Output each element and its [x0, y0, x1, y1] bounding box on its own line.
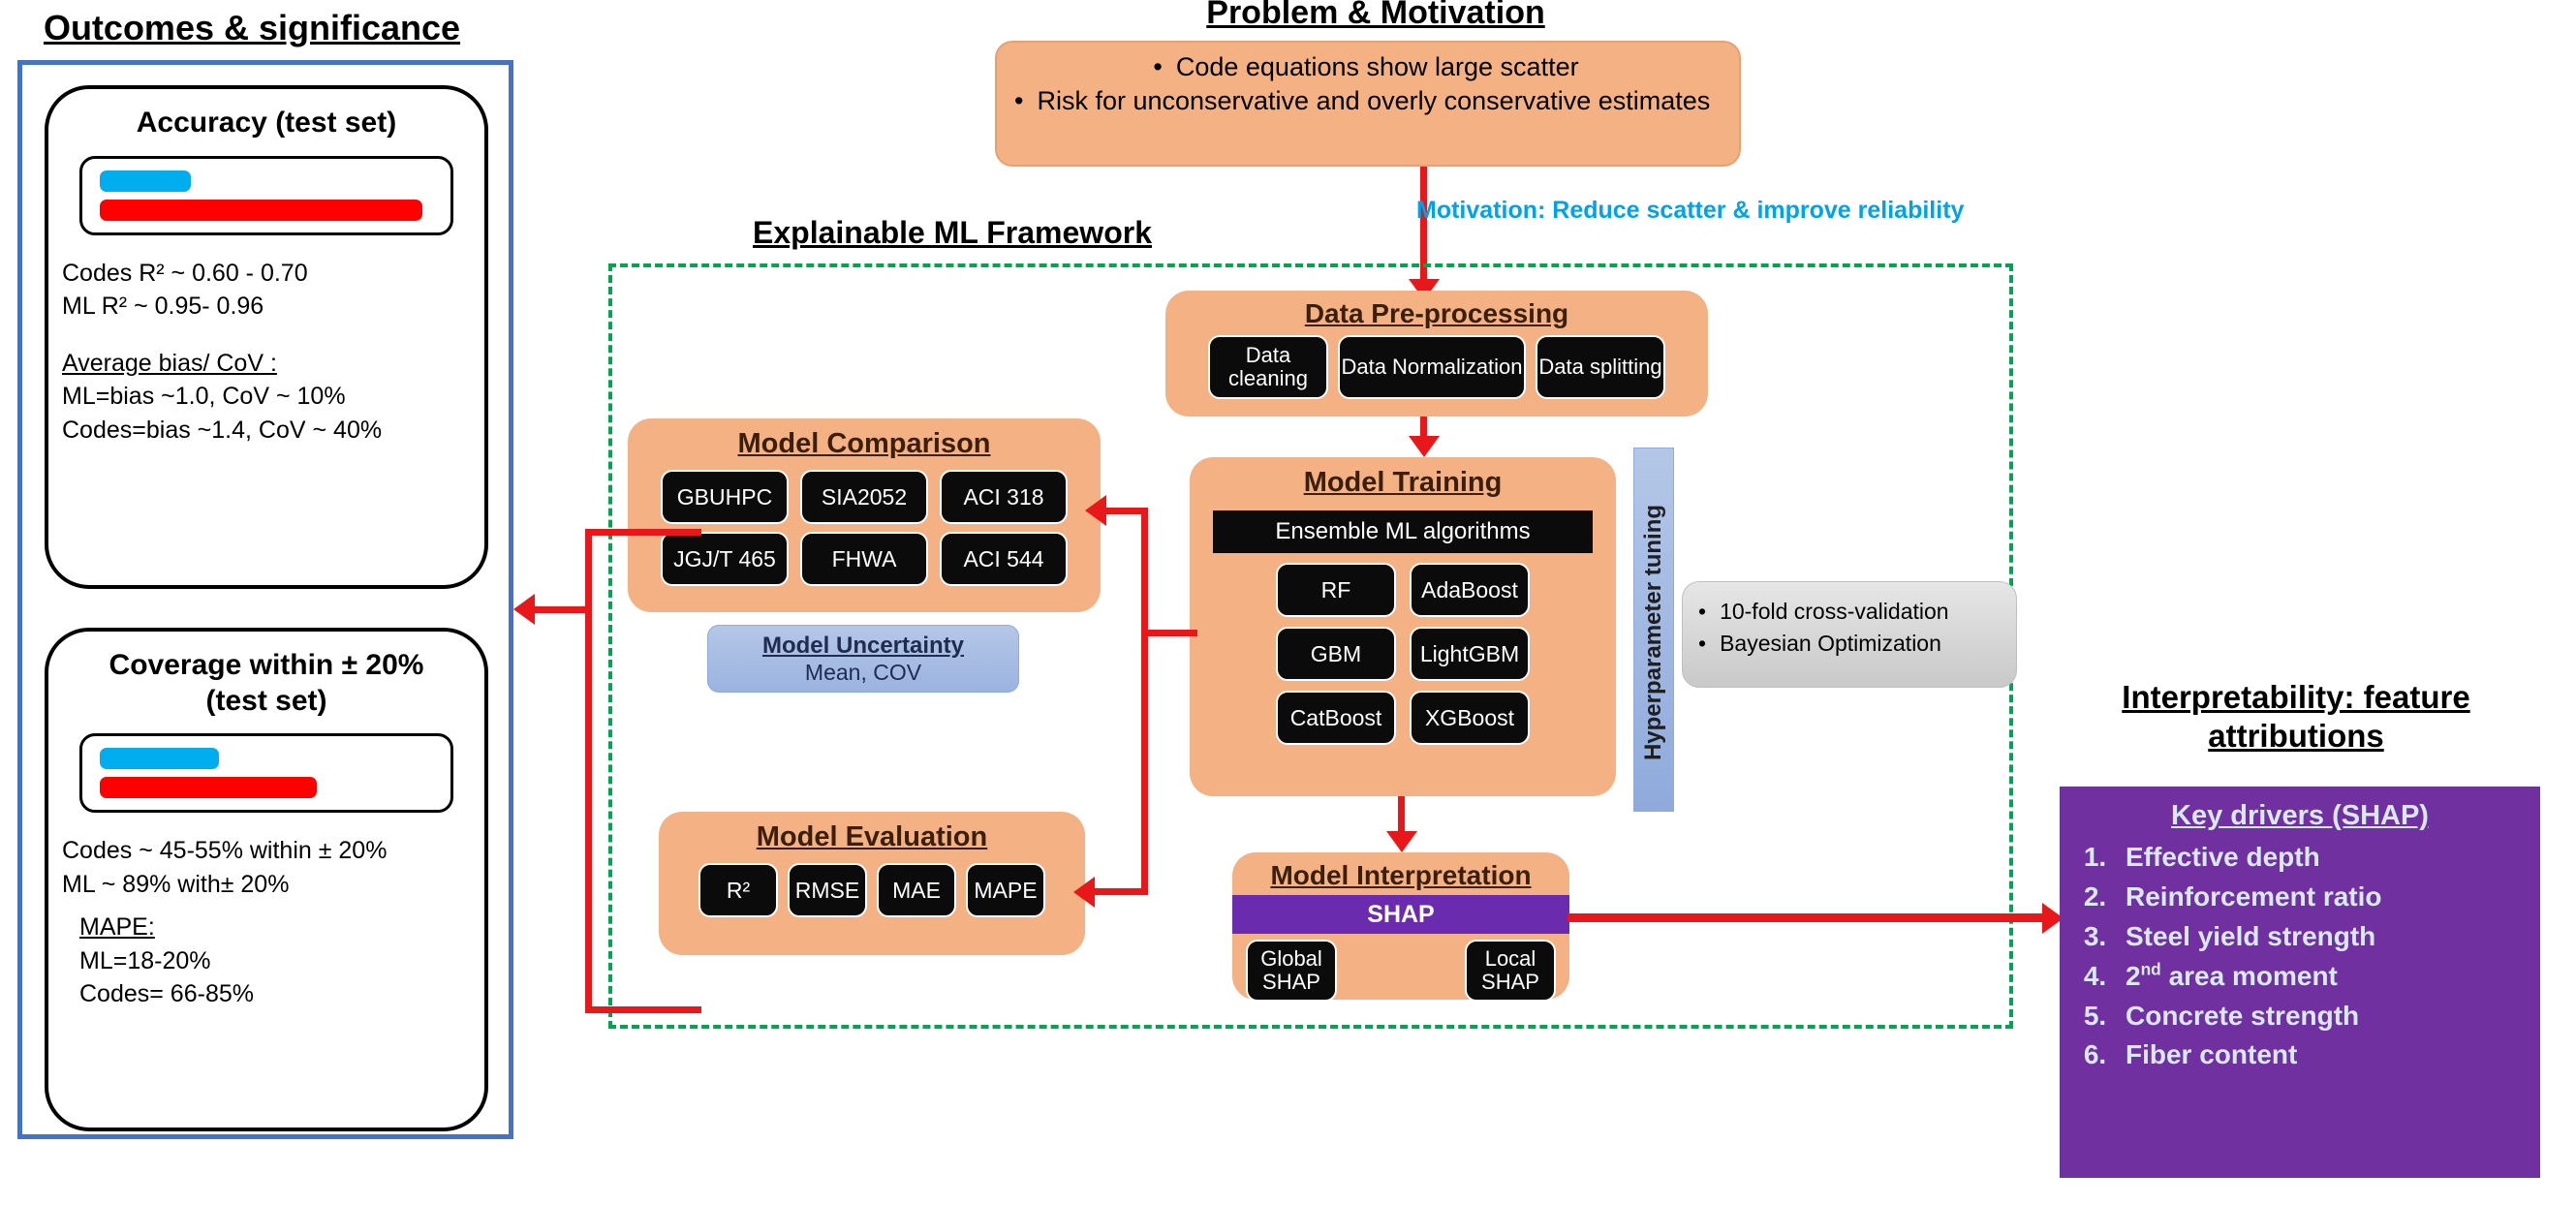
arrow-outcomes-top-stub [585, 529, 701, 536]
model-uncertainty-title: Model Uncertainty [708, 626, 1018, 660]
local-shap-button[interactable]: Local SHAP [1465, 940, 1556, 1002]
accuracy-card: Accuracy (test set) Codes R² ~ 0.60 - 0.… [45, 85, 488, 589]
framework-title: Explainable ML Framework [715, 215, 1190, 251]
problem-bullet-2-row: •Risk for unconservative and overly cons… [1014, 84, 1718, 118]
callout-line-1-row: •10-fold cross-validation [1698, 596, 2016, 628]
code-fhwa[interactable]: FHWA [800, 532, 928, 586]
coverage-body: Codes ~ 45-55% within ± 20% ML ~ 89% wit… [48, 834, 484, 1011]
metric-mae[interactable]: MAE [877, 863, 956, 917]
driver-item-4: 2nd area moment [2114, 957, 2540, 997]
problem-box: •Code equations show large scatter •Risk… [995, 41, 1741, 167]
arrow-outcomes-vertical [585, 529, 592, 1013]
metric-r2[interactable]: R² [698, 863, 778, 917]
code-gbuhpc[interactable]: GBUHPC [661, 470, 789, 524]
global-shap-button[interactable]: Global SHAP [1246, 940, 1337, 1002]
arrow-training-branch-vertical [1141, 508, 1148, 895]
coverage-subline-1: ML=18-20% [79, 944, 484, 978]
driver-item-6: Fiber content [2114, 1035, 2540, 1075]
code-aci-544[interactable]: ACI 544 [940, 532, 1068, 586]
algorithm-grid: RF AdaBoost GBM LightGBM CatBoost XGBoos… [1190, 563, 1616, 745]
algorithm-rf[interactable]: RF [1276, 563, 1396, 617]
model-interpretation-card: Model Interpretation SHAP Global SHAP Lo… [1232, 852, 1569, 1000]
model-uncertainty-sub: Mean, COV [708, 660, 1018, 686]
driver-item-4-text: 2nd area moment [2126, 961, 2338, 991]
arrowhead-left-icon [513, 594, 535, 625]
coverage-heading-line2: (test set) [48, 685, 484, 719]
coverage-ml-bar [100, 748, 219, 769]
outcomes-title: Outcomes & significance [19, 8, 484, 48]
interpretability-title: Interpretability: feature attributions [2064, 678, 2529, 757]
problem-title: Problem & Motivation [1104, 0, 1647, 32]
arrow-outcomes-horizontal [531, 606, 591, 613]
algorithm-adaboost[interactable]: AdaBoost [1410, 563, 1530, 617]
data-preprocessing-title: Data Pre-processing [1165, 291, 1708, 329]
interpretability-title-line2: attributions [2064, 717, 2529, 756]
bullet-icon: • [1698, 628, 1706, 660]
shap-items-row: Global SHAP Local SHAP [1232, 934, 1569, 1002]
problem-bullet-1-row: •Code equations show large scatter [1014, 50, 1718, 84]
arrow-training-branch-stub [1141, 630, 1197, 636]
accuracy-body: Codes R² ~ 0.60 - 0.70 ML R² ~ 0.95- 0.9… [48, 257, 484, 448]
key-drivers-heading: Key drivers (SHAP) [2060, 800, 2540, 832]
algorithm-catboost[interactable]: CatBoost [1276, 691, 1396, 745]
metric-rmse[interactable]: RMSE [788, 863, 867, 917]
arrow-outcomes-bottom-stub [585, 1006, 701, 1013]
coverage-card: Coverage within ± 20% (test set) Codes ~… [45, 628, 488, 1131]
driver-item-1: Effective depth [2114, 838, 2540, 878]
evaluation-metrics-row: R² RMSE MAE MAPE [659, 863, 1085, 917]
model-interpretation-title: Model Interpretation [1232, 852, 1569, 891]
driver-item-5: Concrete strength [2114, 997, 2540, 1036]
arrowhead-down-icon [1386, 831, 1417, 852]
model-training-title: Model Training [1190, 457, 1616, 499]
key-drivers-list: Effective depth Reinforcement ratio Stee… [2060, 838, 2540, 1075]
bullet-icon: • [1014, 84, 1023, 118]
accuracy-subheading: Average bias/ CoV : [62, 347, 484, 381]
data-preprocessing-card: Data Pre-processing Data cleaning Data N… [1165, 291, 1708, 417]
model-comparison-card: Model Comparison GBUHPC SIA2052 ACI 318 … [628, 418, 1101, 612]
preproc-item-data-splitting[interactable]: Data splitting [1536, 335, 1665, 399]
key-drivers-panel: Key drivers (SHAP) Effective depth Reinf… [2060, 787, 2540, 1178]
ensemble-ml-algorithms-label: Ensemble ML algorithms [1213, 510, 1593, 553]
preproc-item-data-cleaning[interactable]: Data cleaning [1208, 335, 1328, 399]
accuracy-ml-bar [100, 170, 191, 192]
algorithm-gbm[interactable]: GBM [1276, 627, 1396, 681]
driver-item-3: Steel yield strength [2114, 917, 2540, 957]
data-preprocessing-items: Data cleaning Data Normalization Data sp… [1165, 335, 1708, 399]
coverage-heading-line1: Coverage within ± 20% [48, 649, 484, 683]
problem-bullet-2: Risk for unconservative and overly conse… [1037, 86, 1710, 115]
coverage-codes-bar [100, 777, 317, 798]
bullet-icon: • [1698, 596, 1706, 628]
callout-line-2-row: •Bayesian Optimization [1698, 628, 2016, 660]
algorithm-lightgbm[interactable]: LightGBM [1410, 627, 1530, 681]
hyperparameter-tuning-label: Hyperparameter tuning [1640, 458, 1667, 807]
arrow-shap-to-drivers [1567, 913, 2050, 922]
code-jgj-t-465[interactable]: JGJ/T 465 [661, 532, 789, 586]
hyperparameter-tuning-strip: Hyperparameter tuning [1633, 448, 1674, 812]
arrowhead-left-icon [1085, 495, 1106, 526]
model-evaluation-title: Model Evaluation [659, 812, 1085, 853]
coverage-bar-frame [79, 733, 453, 813]
arrowhead-left-icon [1073, 877, 1095, 908]
model-training-card: Model Training Ensemble ML algorithms RF… [1190, 457, 1616, 796]
accuracy-heading: Accuracy (test set) [48, 107, 484, 140]
bullet-icon: • [1153, 50, 1162, 84]
preproc-item-data-normalization[interactable]: Data Normalization [1338, 335, 1526, 399]
hyperparameter-callout: •10-fold cross-validation •Bayesian Opti… [1682, 581, 2017, 688]
shap-band: SHAP [1232, 895, 1569, 934]
accuracy-codes-bar [100, 200, 422, 221]
algorithm-xgboost[interactable]: XGBoost [1410, 691, 1530, 745]
spacer [62, 324, 484, 347]
code-sia2052[interactable]: SIA2052 [800, 470, 928, 524]
coverage-line-1: Codes ~ 45-55% within ± 20% [62, 834, 484, 868]
driver-item-2: Reinforcement ratio [2114, 878, 2540, 917]
coverage-subline-2: Codes= 66-85% [79, 977, 484, 1011]
model-comparison-title: Model Comparison [628, 418, 1101, 460]
problem-bullet-1: Code equations show large scatter [1176, 52, 1579, 81]
accuracy-subline-2: Codes=bias ~1.4, CoV ~ 40% [62, 414, 484, 448]
callout-line-2: Bayesian Optimization [1720, 631, 1941, 656]
interpretability-title-line1: Interpretability: feature [2064, 678, 2529, 717]
motivation-caption: Motivation: Reduce scatter & improve rel… [1416, 197, 1964, 225]
metric-mape[interactable]: MAPE [966, 863, 1045, 917]
accuracy-line-1: Codes R² ~ 0.60 - 0.70 [62, 257, 484, 291]
model-uncertainty-card: Model Uncertainty Mean, COV [707, 625, 1019, 693]
spacer [62, 901, 484, 911]
model-evaluation-card: Model Evaluation R² RMSE MAE MAPE [659, 812, 1085, 955]
code-aci-318[interactable]: ACI 318 [940, 470, 1068, 524]
comparison-code-grid: GBUHPC SIA2052 ACI 318 JGJ/T 465 FHWA AC… [628, 470, 1101, 586]
coverage-line-2: ML ~ 89% with± 20% [62, 868, 484, 902]
arrow-to-comparison-horizontal [1102, 508, 1147, 514]
arrow-to-evaluation-horizontal [1091, 888, 1147, 895]
arrowhead-down-icon [1409, 436, 1440, 457]
accuracy-bar-frame [79, 156, 453, 235]
callout-line-1: 10-fold cross-validation [1720, 599, 1949, 624]
accuracy-line-2: ML R² ~ 0.95- 0.96 [62, 290, 484, 324]
accuracy-subline-1: ML=bias ~1.0, CoV ~ 10% [62, 380, 484, 414]
coverage-subheading: MAPE: [79, 911, 484, 944]
